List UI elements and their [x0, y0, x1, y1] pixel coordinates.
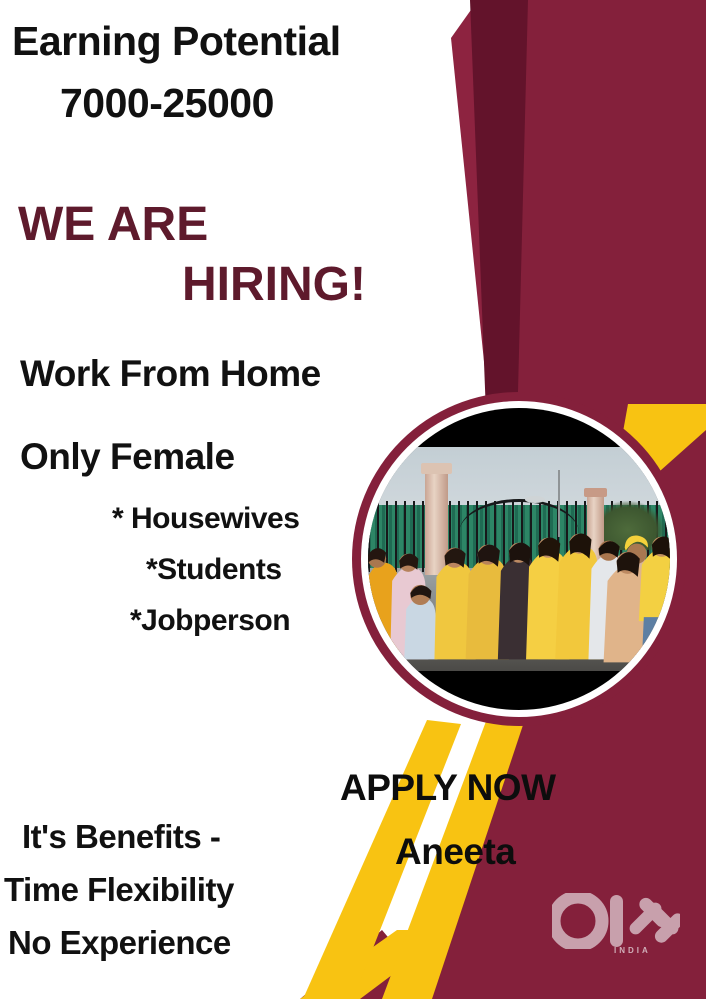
benefit-item-no-experience: No Experience — [8, 926, 231, 960]
hiring-heading: HIRING! — [182, 260, 366, 310]
work-mode-text: Work From Home — [20, 355, 321, 393]
olx-logo — [552, 893, 680, 949]
benefit-item-time-flexibility: Time Flexibility — [4, 873, 234, 907]
photo-scene — [368, 447, 670, 670]
earning-potential-label: Earning Potential — [12, 20, 341, 63]
eligibility-text: Only Female — [20, 438, 235, 476]
audience-item-jobperson: *Jobperson — [130, 605, 290, 636]
hiring-poster: Earning Potential 7000-25000 WE ARE HIRI… — [0, 0, 706, 999]
apply-now-cta[interactable]: APPLY NOW — [340, 769, 556, 807]
hero-photo-circle — [352, 392, 686, 726]
benefits-title: It's Benefits - — [22, 820, 220, 854]
contact-name: Aneeta — [395, 833, 515, 871]
olx-region-label: INDIA — [614, 946, 651, 955]
bottom-left-maroon-accent — [300, 930, 440, 999]
we-are-heading: WE ARE — [18, 200, 208, 250]
salary-range: 7000-25000 — [60, 82, 274, 125]
photo-clip — [368, 408, 670, 710]
photo-inner-ring — [361, 401, 677, 717]
crowd-group — [368, 447, 670, 670]
audience-item-housewives: * Housewives — [112, 503, 299, 534]
top-wedge-light — [451, 0, 520, 440]
audience-item-students: *Students — [146, 554, 282, 585]
bottom-yellow-stripe-1 — [300, 930, 452, 999]
